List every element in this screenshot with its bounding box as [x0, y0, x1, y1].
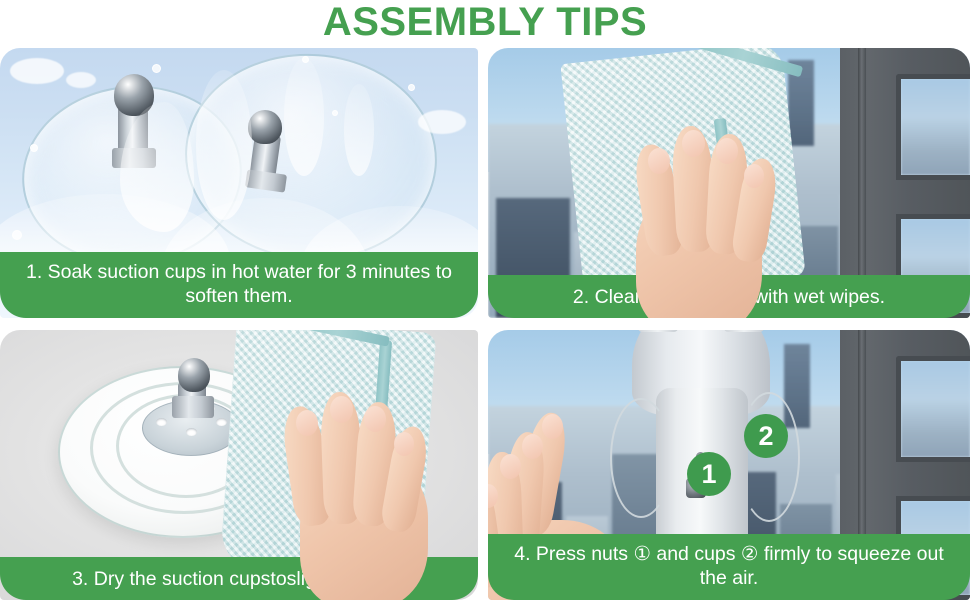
wire-left	[610, 398, 672, 518]
step-4-caption: 4. Press nuts ① and cups ② firmly to squ…	[488, 534, 970, 600]
water-splash-plume-mid	[196, 70, 252, 220]
water-splash-plume-far	[344, 84, 374, 176]
callout-badge-1: 1	[687, 452, 731, 496]
step-panel-3: 3. Dry the suction cupstoslightly damp.	[0, 330, 478, 600]
fingernail	[364, 406, 386, 432]
water-droplet-5	[408, 84, 415, 91]
fingernail	[542, 414, 563, 439]
fingernail	[330, 396, 353, 423]
window-pane-upper	[896, 74, 970, 180]
fingernail	[522, 434, 543, 459]
step-panel-4: 1 2 4. Press nuts ① and cups ② firmly to…	[488, 330, 970, 600]
handle-ear-right	[724, 330, 764, 332]
assembly-tips-infographic: ASSEMBLY TIPS	[0, 0, 970, 600]
water-spray-2	[66, 72, 96, 88]
water-droplet-6	[12, 230, 22, 240]
water-spray-1	[10, 58, 64, 84]
cup-nut	[172, 396, 214, 418]
step-1-caption: 1. Soak suction cups in hot water for 3 …	[0, 252, 478, 318]
fingernail	[394, 432, 414, 456]
fingernail	[682, 130, 705, 157]
cup-knob-right	[248, 110, 282, 144]
fingernail	[296, 410, 318, 436]
fingernail	[648, 148, 670, 174]
water-splash-plume-right	[284, 58, 324, 176]
steps-grid: 1. Soak suction cups in hot water for 3 …	[0, 48, 970, 600]
callout-badge-2: 2	[744, 414, 788, 458]
pane-view	[901, 361, 970, 457]
flange-hole	[186, 428, 197, 436]
handle-ear-left	[638, 330, 678, 332]
page-title: ASSEMBLY TIPS	[0, 0, 970, 48]
step-panel-1: 1. Soak suction cups in hot water for 3 …	[0, 48, 478, 318]
pane-view	[901, 79, 970, 175]
fingernail	[500, 454, 521, 479]
fingernail	[716, 138, 738, 164]
water-droplet-1	[152, 64, 161, 73]
cup-knob	[178, 358, 210, 392]
flange-hole	[156, 418, 167, 426]
fingernail	[744, 164, 764, 188]
water-droplet-3	[332, 110, 338, 116]
water-spray-3	[418, 110, 466, 134]
flange-hole	[216, 418, 227, 426]
water-droplet-2	[302, 56, 309, 63]
step-panel-2: 2. Clean the window with wet wipes.	[488, 48, 970, 318]
window-pane-upper	[896, 356, 970, 462]
water-droplet-4	[30, 144, 38, 152]
